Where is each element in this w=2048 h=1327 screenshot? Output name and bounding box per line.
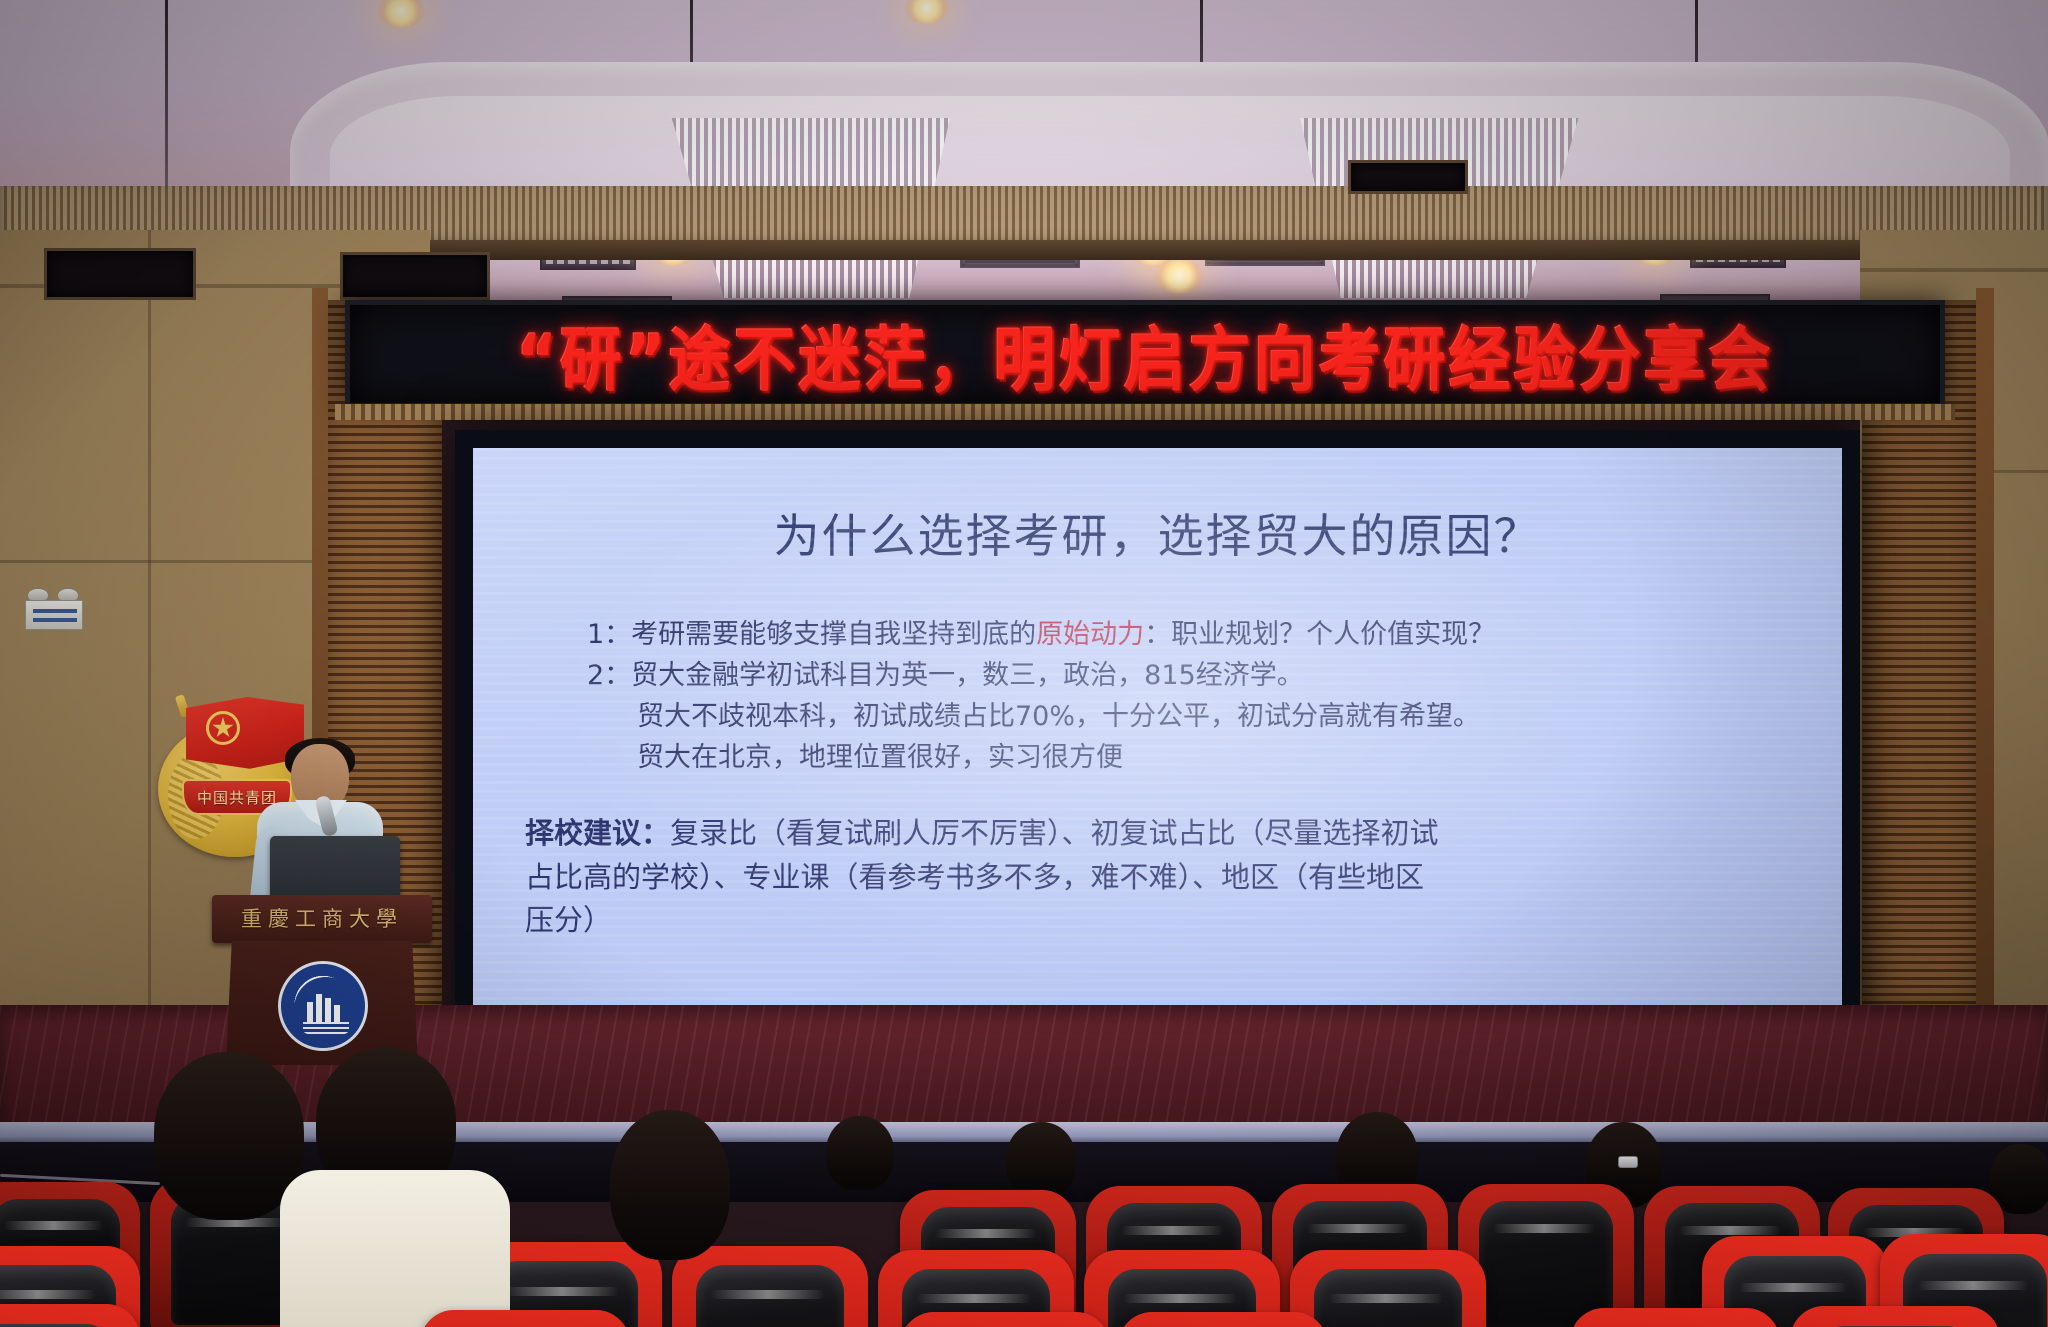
slide-line-text: 贸大在北京，地理位置很好，实习很方便 xyxy=(637,742,1123,773)
emergency-light-fixture xyxy=(25,588,83,630)
wall-seam xyxy=(148,230,151,1010)
ceiling-downlight xyxy=(378,0,424,28)
slide-title: 为什么选择考研，选择贸大的原因？ xyxy=(525,500,1790,566)
slide-advice-label: 择校建议： xyxy=(525,816,670,850)
podium-institution-name: 重慶工商大學 xyxy=(212,903,432,933)
podium: 重慶工商大學 xyxy=(212,895,432,1065)
wall-seam xyxy=(1860,268,2048,272)
university-seal-logo xyxy=(278,961,368,1051)
projection-screen-bezel: 为什么选择考研，选择贸大的原因？ 1：考研需要能够支撑自我坚持到底的原始动力：职… xyxy=(455,430,1860,1042)
emergency-light-body xyxy=(25,600,83,630)
ceiling-downlight xyxy=(905,0,949,24)
person-head xyxy=(610,1110,730,1260)
person-head xyxy=(154,1052,304,1220)
seat[interactable] xyxy=(1118,1312,1328,1327)
slide-advice-line: 择校建议：复录比（看复试刷人厉不厉害）、初复试占比（尽量选择初试 xyxy=(525,812,1790,856)
seat[interactable] xyxy=(1290,1250,1486,1327)
slide-line: 贸大不歧视本科，初试成绩占比70%，十分公平，初试分高就有希望。 xyxy=(587,696,1790,737)
banner-ledge-trim xyxy=(335,404,1955,420)
person-jacket xyxy=(280,1170,510,1327)
slide-advice-text: 压分） xyxy=(525,903,612,937)
wall-vent-grille xyxy=(340,252,490,300)
audience-person-foreground xyxy=(290,1048,520,1327)
slide-line: 1：考研需要能够支撑自我坚持到底的原始动力：职业规划？个人价值实现？ xyxy=(587,614,1790,655)
slide-advice-block: 择校建议：复录比（看复试刷人厉不厉害）、初复试占比（尽量选择初试 占比高的学校）… xyxy=(525,812,1790,943)
seat[interactable] xyxy=(0,1304,140,1327)
slide-line-text: 贸大不歧视本科，初试成绩占比70%，十分公平，初试分高就有希望。 xyxy=(637,701,1480,732)
seat[interactable] xyxy=(1790,1306,2000,1327)
slide-advice-line: 压分） xyxy=(525,899,1790,943)
wall-vent-grille xyxy=(44,248,196,300)
wood-trim xyxy=(1976,288,1994,1012)
slide-advice-text: 复录比（看复试刷人厉不厉害）、初复试占比（尽量选择初试 xyxy=(670,816,1439,850)
auditorium-scene: 中国共青团 “研”途不迷茫，明灯启方向考研经验分享会 为什么选择考研，选择贸大的… xyxy=(0,0,2048,1327)
slide-line-text: ：职业规划？个人价值实现？ xyxy=(1144,619,1495,650)
event-banner: “研”途不迷茫，明灯启方向考研经验分享会 xyxy=(345,300,1945,408)
seat[interactable] xyxy=(420,1310,630,1327)
event-banner-text: “研”途不迷茫，明灯启方向考研经验分享会 xyxy=(516,304,1774,405)
audience-person xyxy=(820,1116,900,1196)
audience-seating xyxy=(0,1060,2048,1327)
ceiling-speaker-box xyxy=(1348,160,1468,194)
slide-line: 贸大在北京，地理位置很好，实习很方便 xyxy=(587,737,1790,778)
seat[interactable] xyxy=(900,1312,1110,1327)
projection-screen: 为什么选择考研，选择贸大的原因？ 1：考研需要能够支撑自我坚持到底的原始动力：职… xyxy=(473,448,1842,1024)
slide-advice-line: 占比高的学校）、专业课（看参考书多不多，难不难）、地区（有些地区 xyxy=(525,856,1790,900)
seal-wave-icon xyxy=(303,1022,349,1036)
person-head xyxy=(826,1116,894,1190)
slide-advice-text: 占比高的学校）、专业课（看参考书多不多，难不难）、地区（有些地区 xyxy=(525,860,1424,894)
slide-line-text: 2：贸大金融学初试科目为英一，数三，政治，815经济学。 xyxy=(587,660,1304,691)
person-head xyxy=(1006,1122,1076,1198)
slide-line-text: 1：考研需要能够支撑自我坚持到底的 xyxy=(587,619,1036,650)
slide-body: 1：考研需要能够支撑自我坚持到底的原始动力：职业规划？个人价值实现？ 2：贸大金… xyxy=(525,614,1790,778)
presentation-slide: 为什么选择考研，选择贸大的原因？ 1：考研需要能够支撑自我坚持到底的原始动力：职… xyxy=(473,448,1842,1024)
audience-person xyxy=(600,1110,760,1260)
seat[interactable] xyxy=(1570,1308,1780,1327)
seal-building-bars-icon xyxy=(307,994,345,1022)
slide-highlight-text: 原始动力 xyxy=(1036,619,1144,650)
hair-clip xyxy=(1618,1156,1638,1168)
slide-line: 2：贸大金融学初试科目为英一，数三，政治，815经济学。 xyxy=(587,655,1790,696)
